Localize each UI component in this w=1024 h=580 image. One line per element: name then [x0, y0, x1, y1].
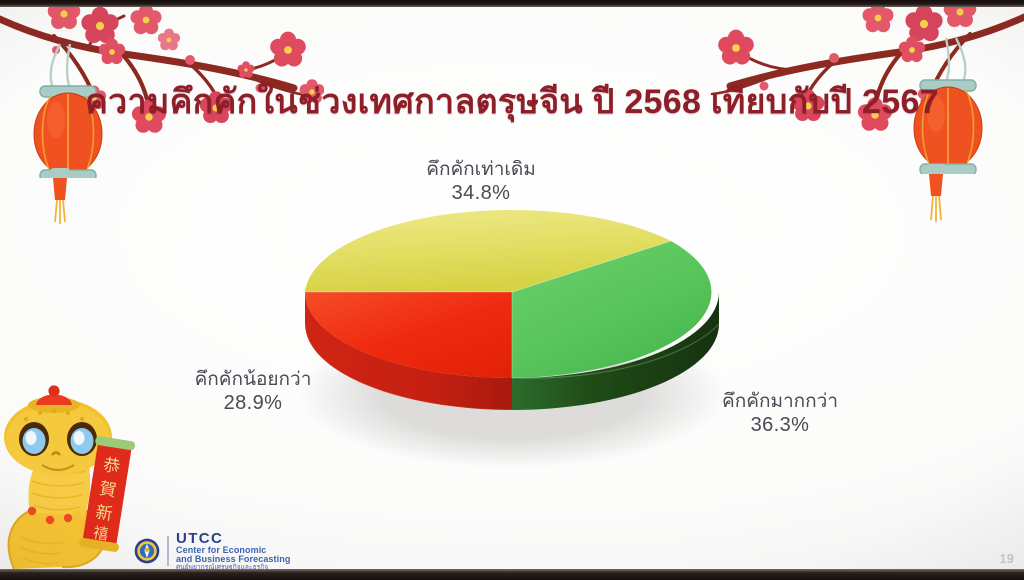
scroll-char-3: 新: [94, 503, 114, 525]
pie-label-more-text: คึกคักมากกว่า: [722, 391, 838, 412]
pie-label-more: คึกคักมากกว่า 36.3%: [655, 390, 905, 438]
pie-label-same-value: 34.8%: [361, 181, 601, 205]
lantern-tassel-right: [916, 164, 956, 231]
utcc-seal-icon: [134, 538, 160, 564]
logo-brand: UTCC: [176, 531, 290, 546]
scroll-char-1: 恭: [102, 455, 122, 477]
page-number: 19: [1000, 551, 1014, 566]
logo-line-3: and Business Forecasting: [176, 555, 290, 564]
utcc-logo: UTCC Center for Economic and Business Fo…: [134, 531, 290, 572]
pie-label-same: คึกคักเท่าเดิม 34.8%: [361, 158, 601, 206]
photo-band-top: [0, 0, 1024, 7]
page-title: ความคึกคักในช่วงเทศกาลตรุษจีน ปี 2568 เท…: [0, 74, 1024, 128]
photo-band-bottom: [0, 569, 1024, 580]
presentation-slide: ความคึกคักในช่วงเทศกาลตรุษจีน ปี 2568 เท…: [0, 0, 1024, 580]
pie-label-same-text: คึกคักเท่าเดิม: [426, 159, 535, 180]
pie-label-less: คึกคักน้อยกว่า 28.9%: [123, 368, 383, 416]
scroll-char-4: 禧: [92, 524, 110, 544]
lantern-tassel-left: [40, 168, 80, 233]
scroll-char-2: 賀: [98, 479, 118, 501]
logo-divider: [167, 536, 169, 566]
pie-label-less-value: 28.9%: [123, 391, 383, 415]
pie-label-more-value: 36.3%: [655, 413, 905, 437]
pie-label-less-text: คึกคักน้อยกว่า: [195, 369, 312, 390]
